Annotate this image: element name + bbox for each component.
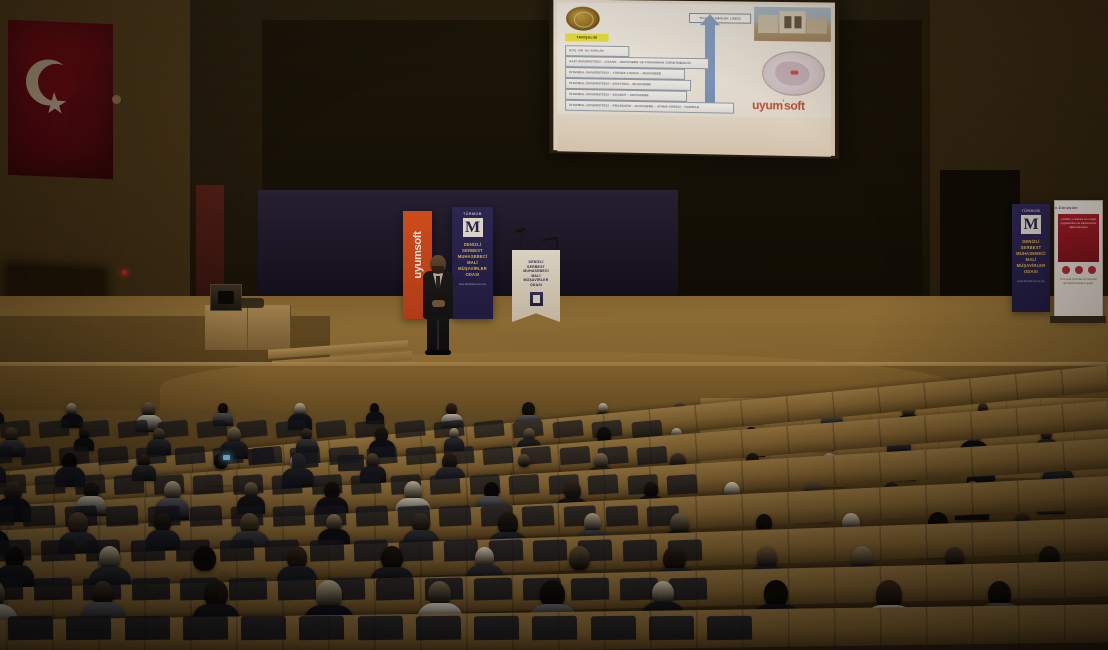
seat[interactable] [532,615,577,639]
building-window [784,16,791,28]
screen-surface: TANIŞALIM TİCARET MESLEK LİSESİ DOÇ. DR.… [553,0,835,156]
seat[interactable] [590,615,635,639]
music-stand [247,447,275,466]
lectern-banner-text: DENİZLİ SERBEST MUHASEBECİ MALİ MÜŞAVİRL… [512,260,560,288]
world-map-graphic [762,51,825,96]
seat[interactable] [394,419,426,438]
smartphone-screen-glow [223,455,230,460]
banner-turmob-top-text: TÜRMOB [452,212,493,216]
seat[interactable] [66,615,111,639]
seat[interactable] [193,474,224,494]
seat[interactable] [241,615,286,639]
lectern: DENİZLİ SERBEST MUHASEBECİ MALİ MÜŞAVİRL… [512,250,560,322]
turkish-flag [8,20,113,180]
presenter-tie [436,276,440,288]
seat[interactable] [473,419,505,438]
presenter-beard [432,266,444,274]
location-marker-icon [790,70,798,74]
seat[interactable] [106,505,139,526]
seat[interactable] [588,474,619,494]
banner-edonusum: e-Dönüşüm e-Defter, e-Fatura ve e-Arşiv … [1054,200,1103,320]
banner-turmob-lines: DENİZLİ SERBEST MUHASEBECİ MALİ MÜŞAVİRL… [452,242,493,279]
banner-edonusum-redblock: e-Defter, e-Fatura ve e-Arşiv uygulamala… [1058,214,1099,262]
building-window [794,16,801,28]
seat[interactable] [309,540,344,562]
seat[interactable] [707,615,752,639]
seat[interactable] [229,577,267,600]
seat[interactable] [97,446,128,466]
dot-icon [1075,266,1083,274]
star-icon [44,94,67,114]
seat[interactable] [351,474,382,494]
seat[interactable] [299,615,344,639]
seat[interactable] [649,615,694,639]
seat[interactable] [131,540,166,562]
seat[interactable] [473,577,511,600]
seat[interactable] [8,615,53,639]
turmob-m-logo: M [463,218,483,237]
slide-callout-label: TİCARET MESLEK LİSESİ [689,13,751,24]
seat[interactable] [315,419,347,438]
dot-icon [1088,266,1096,274]
seat[interactable] [0,446,13,466]
stage-cables [240,298,264,308]
seat[interactable] [474,615,519,639]
banner-icon-row [1062,266,1096,274]
seat[interactable] [131,577,169,600]
seat[interactable] [23,505,56,526]
music-stand [291,451,318,469]
seat[interactable] [430,474,461,494]
seat[interactable] [605,505,638,526]
seat[interactable] [533,540,568,562]
seat[interactable] [20,446,51,466]
seat[interactable] [405,446,436,466]
building-shape [779,11,805,33]
sponsor-logo-main: uyum [752,98,783,113]
sponsor-logo-suffix: soft [784,99,805,113]
seat[interactable] [358,615,403,639]
floor-monitor-speaker [210,284,242,311]
banner-edonusum-heading: e-Dönüşüm [1055,206,1102,210]
sponsor-logo: uyum'soft [752,97,805,112]
seat[interactable] [636,446,667,466]
banner-stand-base [1050,316,1106,323]
seat[interactable] [117,419,149,438]
seat[interactable] [399,540,434,562]
banner-turmob-left: TÜRMOB M DENİZLİ SERBEST MUHASEBECİ MALİ… [452,207,493,319]
flag-mount [112,95,121,104]
seat[interactable] [376,577,414,600]
screen-blank-area [557,114,831,157]
seat[interactable] [34,474,65,494]
seat[interactable] [622,540,657,562]
seat[interactable] [552,419,584,438]
building-shape [807,17,827,33]
indicator-light-red [122,270,127,275]
presentation-slide: TANIŞALIM TİCARET MESLEK LİSESİ DOÇ. DR.… [557,2,831,118]
seat[interactable] [183,615,228,639]
seat[interactable] [416,615,461,639]
lectern-line: ODASI [512,283,560,288]
banner-edonusum-body: Yeni nesil çözümler ve hizmetler için bi… [1058,278,1099,285]
seat[interactable] [667,474,698,494]
seat[interactable] [272,505,305,526]
seat[interactable] [220,540,255,562]
school-building-photo [754,7,831,42]
seat[interactable] [669,577,707,600]
seat[interactable] [196,419,228,438]
seat[interactable] [272,474,303,494]
seat[interactable] [444,540,479,562]
banner-line: ODASI [452,272,493,278]
seat[interactable] [439,505,472,526]
seat[interactable] [38,419,70,438]
stage-riser-box [205,305,291,350]
slide-bullet: İSTANBUL ÜNİVERSİTESİ – PROFESÖR – MUHAS… [565,100,734,113]
music-stand [338,455,365,472]
presenter-shoes [425,350,451,355]
seat[interactable] [125,615,170,639]
seat[interactable] [189,505,222,526]
seat[interactable] [559,446,590,466]
seat[interactable] [356,505,389,526]
seat[interactable] [522,505,555,526]
banner-turmob-right: TÜRMOB M DENİZLİ SERBEST MUHASEBECİ MALİ… [1012,204,1050,312]
seat[interactable] [114,474,145,494]
seat[interactable] [33,577,71,600]
lectern-emblem [530,292,543,306]
turmob-m-logo: M [1021,215,1041,234]
slide-section-tag: TANIŞALIM [565,33,608,42]
dot-icon [1062,266,1070,274]
banner-turmob-top-text: TÜRMOB [1012,209,1050,213]
gold-seal-emblem [566,7,600,31]
seat[interactable] [509,474,540,494]
banner-turmob-lines: DENİZLİ SERBEST MUHASEBECİ MALİ MÜŞAVİRL… [1012,239,1050,276]
projection-screen: TANIŞALIM TİCARET MESLEK LİSESİ DOÇ. DR.… [549,0,839,159]
seat[interactable] [0,505,14,526]
presenter-hands [432,300,445,307]
building-shape [758,15,778,33]
seat[interactable] [482,446,513,466]
seat[interactable] [278,577,316,600]
presenter-legs [427,316,449,352]
slide-bullet: DOÇ. DR. ALİ KAPLAN [565,45,629,56]
banner-url: www.denizlismmmo.org [1012,280,1050,283]
banner-line: ODASI [1012,269,1050,275]
seat[interactable] [571,577,609,600]
banner-url: www.denizlismmmo.org [452,283,493,286]
seat[interactable] [41,540,76,562]
auditorium-screenshot: TANIŞALIM TİCARET MESLEK LİSESİ DOÇ. DR.… [0,0,1108,650]
seat[interactable] [174,446,205,466]
